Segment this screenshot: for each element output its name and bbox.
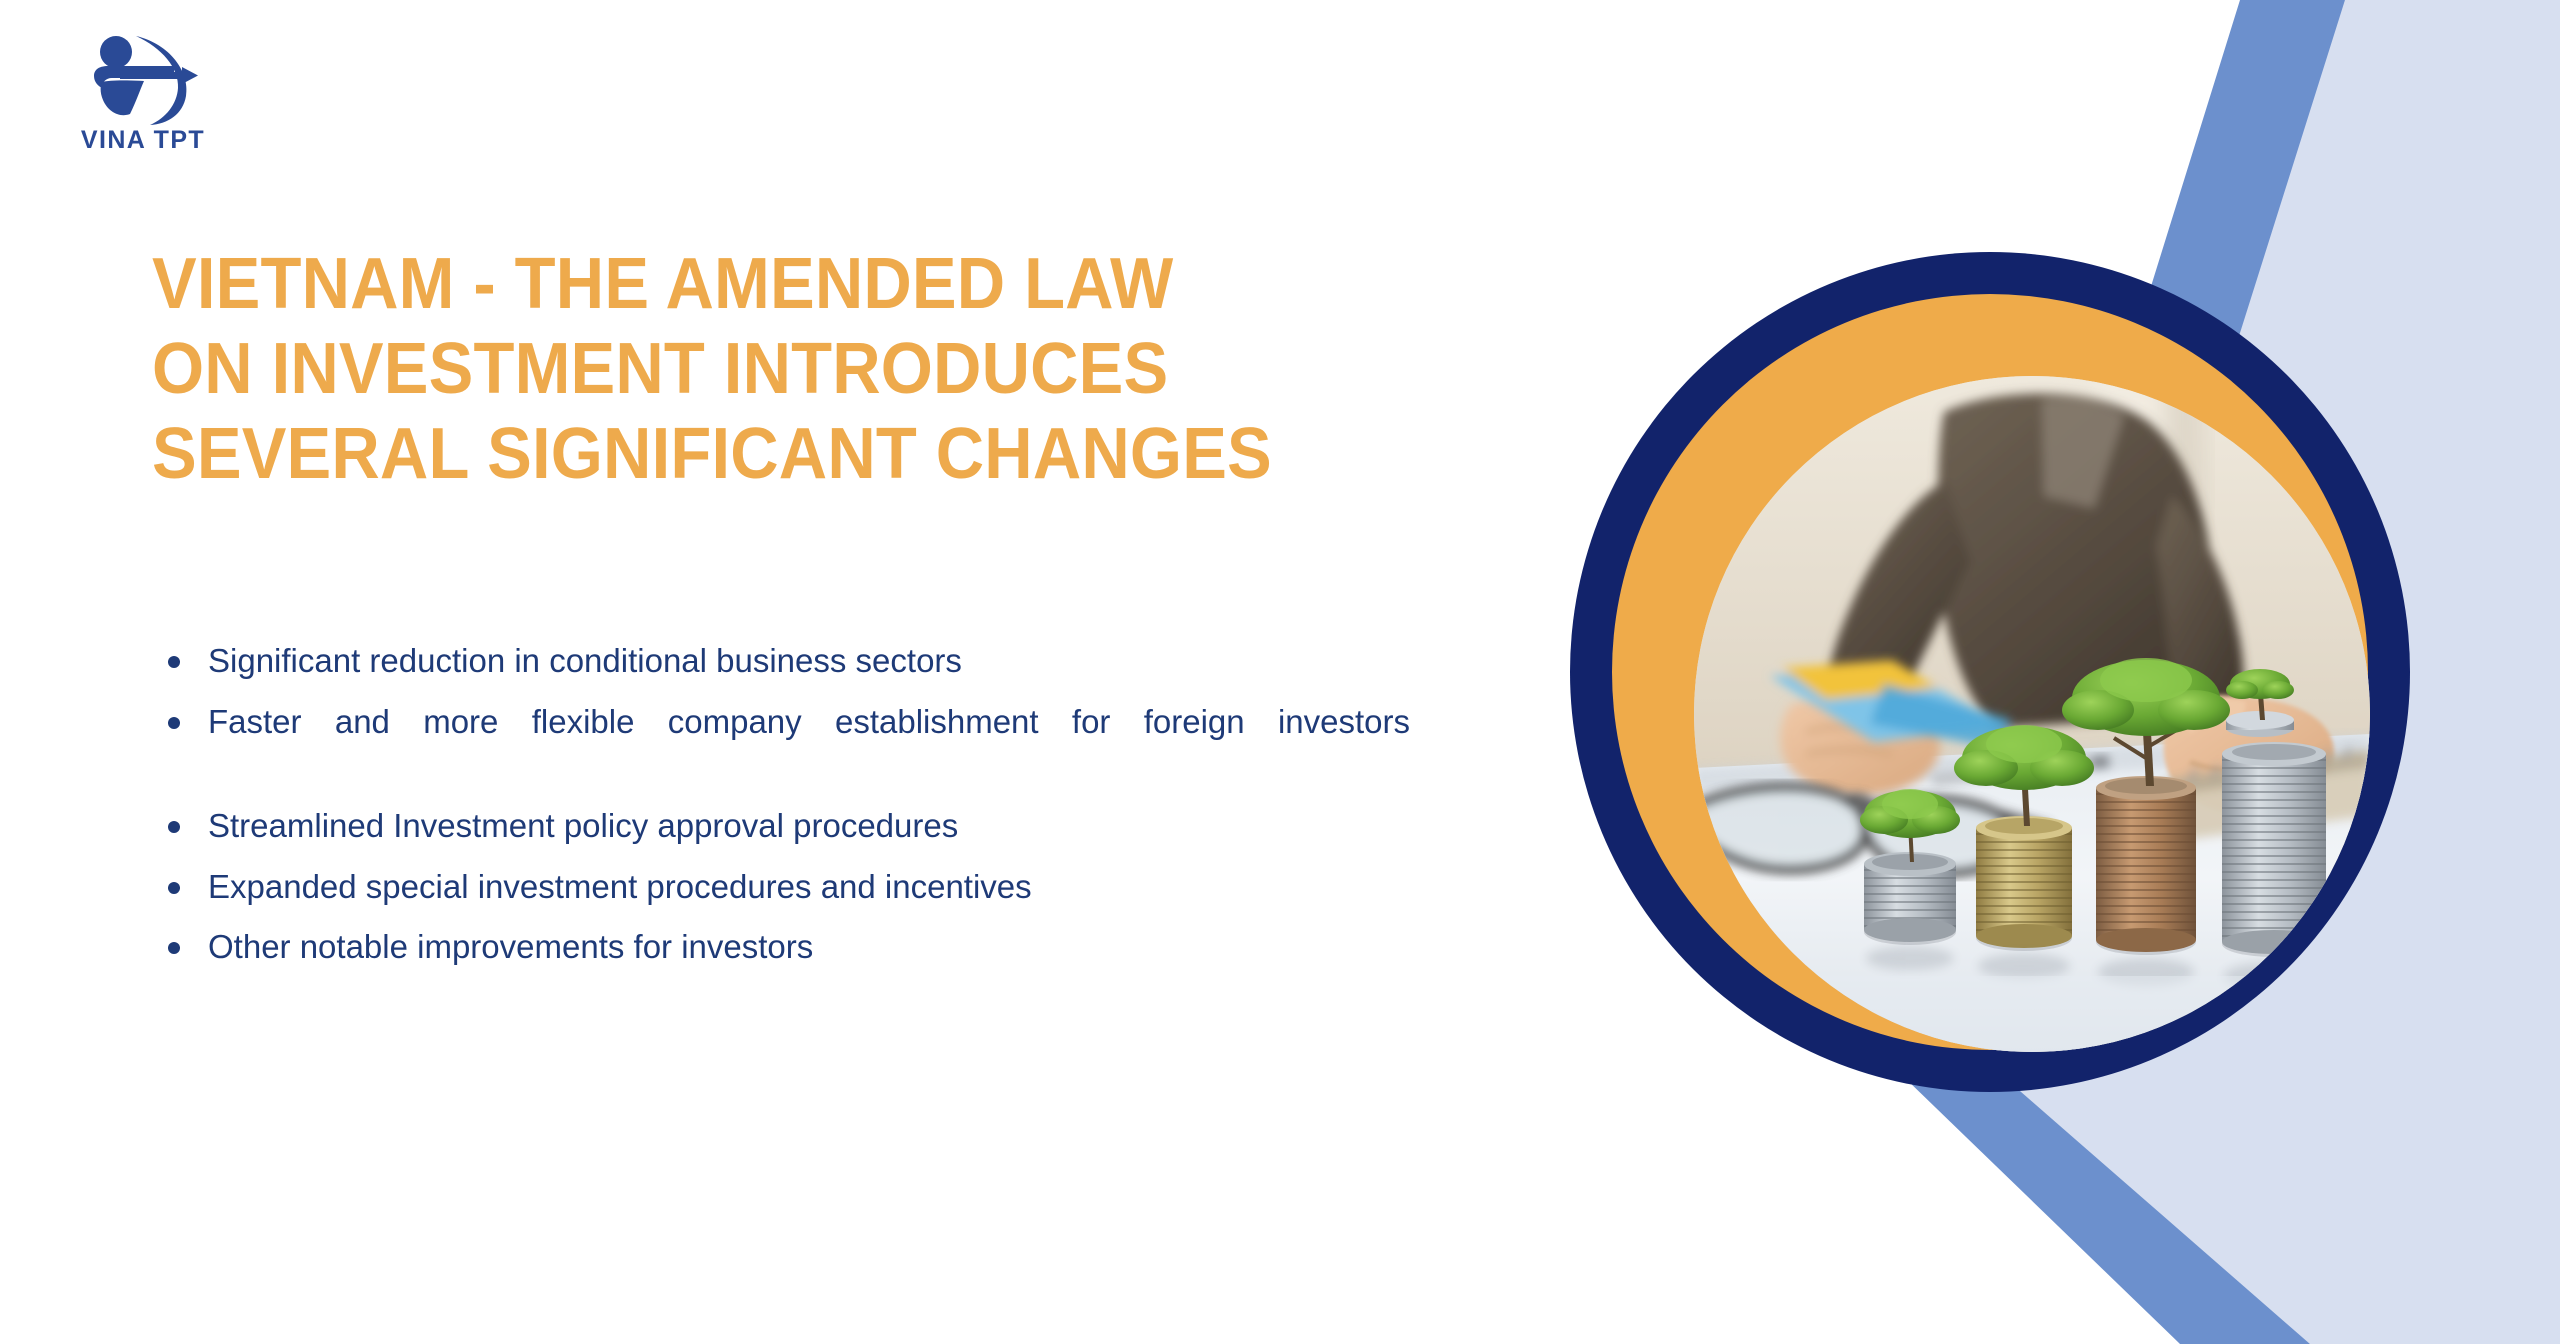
- coin-stack-1: [1860, 789, 1960, 945]
- investment-growth-photo: [1694, 376, 2370, 1052]
- slide-canvas: VINA TPT VIETNAM - THE AMENDED LAW ON IN…: [0, 0, 2560, 1344]
- list-item: Other notable improvements for investors: [150, 926, 1410, 969]
- photo-badge-inner-ring: [1612, 294, 2368, 1050]
- list-item-label: Significant reduction in conditional bus…: [208, 640, 1410, 683]
- photo-illustration: [1694, 376, 2370, 1052]
- list-item-label: Expanded special investment procedures a…: [208, 866, 1410, 909]
- highlights-list: Significant reduction in conditional bus…: [150, 640, 1410, 987]
- list-item: Streamlined Investment policy approval p…: [150, 805, 1410, 848]
- brand-wordmark: VINA TPT: [48, 126, 238, 155]
- list-item-label: Other notable improvements for investors: [208, 926, 1410, 969]
- brand-logo[interactable]: VINA TPT: [48, 28, 238, 158]
- list-item-label: Faster and more flexible company establi…: [208, 701, 1410, 787]
- photo-badge-outer-ring: [1570, 252, 2410, 1092]
- list-item: Faster and more flexible company establi…: [150, 701, 1410, 787]
- list-item: Expanded special investment procedures a…: [150, 866, 1410, 909]
- headline-line-2: ON INVESTMENT INTRODUCES: [152, 327, 1454, 412]
- page-title: VIETNAM - THE AMENDED LAW ON INVESTMENT …: [152, 242, 1454, 497]
- archer-bow-icon: [78, 28, 198, 126]
- list-item-label: Streamlined Investment policy approval p…: [208, 805, 1410, 848]
- list-item: Significant reduction in conditional bus…: [150, 640, 1410, 683]
- headline-line-1: VIETNAM - THE AMENDED LAW: [152, 242, 1454, 327]
- headline-line-3: SEVERAL SIGNIFICANT CHANGES: [152, 412, 1454, 497]
